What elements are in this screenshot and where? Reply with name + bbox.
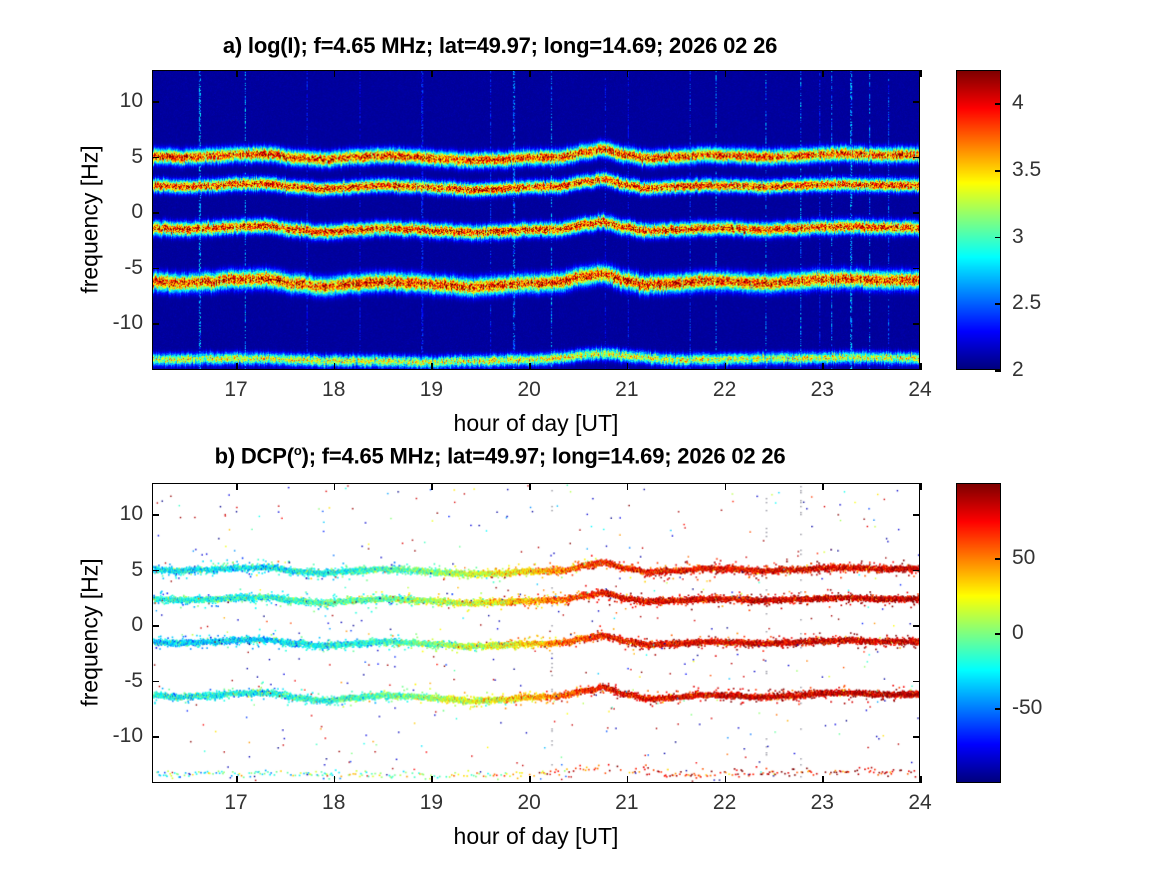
y-tick-mark-right [913, 736, 920, 738]
panel-a-colorbar [956, 70, 1001, 370]
y-tick-mark-right [913, 212, 920, 214]
x-tick-label: 21 [615, 791, 638, 815]
y-tick-label: -5 [124, 669, 143, 693]
panel-a-axes [152, 70, 920, 370]
x-tick-mark-top [529, 70, 531, 77]
y-tick-mark-right [913, 157, 920, 159]
colorbar-tick-label: 3.5 [1012, 158, 1041, 182]
colorbar-tick-label: 4 [1012, 91, 1024, 115]
panel-b-title-superscript: o [294, 443, 302, 458]
x-tick-mark [334, 363, 336, 370]
y-tick-label: 5 [131, 145, 143, 169]
panel-b-title: b) DCP(o); f=4.65 MHz; lat=49.97; long=1… [0, 443, 1000, 469]
panel-b-axes [152, 483, 920, 783]
y-tick-mark-right [913, 514, 920, 516]
y-tick-label: 10 [120, 502, 143, 526]
colorbar-tick-mark [995, 708, 1001, 710]
panel-a-title: a) log(I); f=4.65 MHz; lat=49.97; long=1… [0, 33, 1000, 59]
panel-b-title-prefix: b) DCP( [215, 443, 294, 468]
x-tick-mark-top [725, 70, 727, 77]
x-tick-mark-top [431, 483, 433, 490]
y-tick-mark-right [913, 323, 920, 325]
panel-a-xlabel: hour of day [UT] [152, 410, 920, 437]
y-tick-label: 5 [131, 558, 143, 582]
colorbar-tick-mark [995, 303, 1001, 305]
y-tick-mark-right [913, 681, 920, 683]
x-tick-mark [529, 776, 531, 783]
y-tick-mark-right [913, 570, 920, 572]
colorbar-tick-mark [995, 633, 1001, 635]
panel-b-title-suffix: ); f=4.65 MHz; lat=49.97; long=14.69; 20… [302, 443, 786, 468]
x-tick-mark [725, 776, 727, 783]
x-tick-label: 21 [615, 378, 638, 402]
y-tick-mark [152, 570, 159, 572]
x-tick-mark-top [529, 483, 531, 490]
y-tick-mark [152, 625, 159, 627]
x-tick-mark-top [334, 483, 336, 490]
x-tick-mark-top [822, 483, 824, 490]
x-tick-label: 20 [517, 378, 540, 402]
x-tick-label: 17 [224, 378, 247, 402]
y-tick-label: -10 [113, 724, 143, 748]
x-tick-mark-top [236, 70, 238, 77]
colorbar-tick-mark [995, 237, 1001, 239]
y-tick-mark [152, 681, 159, 683]
colorbar-tick-label: 50 [1012, 546, 1035, 570]
colorbar-tick-mark [995, 370, 1001, 372]
x-tick-mark [822, 776, 824, 783]
x-tick-label: 19 [420, 378, 443, 402]
x-tick-label: 24 [908, 791, 931, 815]
x-tick-mark-top [920, 70, 922, 77]
panel-a-spectrogram [153, 71, 919, 369]
x-tick-mark [627, 776, 629, 783]
panel-a-colorbar-gradient [957, 71, 1000, 369]
y-tick-mark [152, 736, 159, 738]
colorbar-tick-label: 2.5 [1012, 291, 1041, 315]
panel-a: a) log(I); f=4.65 MHz; lat=49.97; long=1… [0, 0, 1167, 437]
x-tick-mark [529, 363, 531, 370]
x-tick-mark-top [627, 483, 629, 490]
panel-a-ylabel: frequency [Hz] [77, 70, 104, 370]
colorbar-tick-label: 0 [1012, 621, 1024, 645]
y-tick-mark-right [913, 101, 920, 103]
panel-b-xlabel: hour of day [UT] [152, 823, 920, 850]
y-tick-label: -10 [113, 311, 143, 335]
x-tick-mark [920, 363, 922, 370]
y-tick-label: -5 [124, 256, 143, 280]
y-tick-mark [152, 323, 159, 325]
colorbar-tick-label: -50 [1012, 696, 1042, 720]
x-tick-mark [431, 776, 433, 783]
x-tick-mark-top [431, 70, 433, 77]
x-tick-mark [725, 363, 727, 370]
panel-b-scatter [153, 484, 919, 782]
x-tick-mark [920, 776, 922, 783]
x-tick-mark [627, 363, 629, 370]
y-tick-mark [152, 514, 159, 516]
colorbar-tick-label: 2 [1012, 358, 1024, 382]
x-tick-mark [334, 776, 336, 783]
x-tick-mark [236, 363, 238, 370]
panel-b-colorbar-gradient [957, 484, 1000, 782]
y-tick-mark [152, 268, 159, 270]
x-tick-mark-top [236, 483, 238, 490]
x-tick-mark [822, 363, 824, 370]
x-tick-mark [236, 776, 238, 783]
y-tick-label: 0 [131, 613, 143, 637]
y-tick-label: 10 [120, 89, 143, 113]
x-tick-label: 22 [713, 378, 736, 402]
y-tick-mark [152, 212, 159, 214]
x-tick-mark-top [725, 483, 727, 490]
x-tick-mark-top [627, 70, 629, 77]
colorbar-tick-mark [995, 170, 1001, 172]
x-tick-label: 23 [811, 791, 834, 815]
x-tick-label: 20 [517, 791, 540, 815]
panel-b-ylabel: frequency [Hz] [77, 483, 104, 783]
x-tick-label: 23 [811, 378, 834, 402]
y-tick-mark-right [913, 268, 920, 270]
x-tick-mark [431, 363, 433, 370]
x-tick-label: 18 [322, 378, 345, 402]
x-tick-mark-top [822, 70, 824, 77]
x-tick-mark-top [920, 483, 922, 490]
y-tick-mark [152, 101, 159, 103]
y-tick-mark [152, 157, 159, 159]
x-tick-label: 18 [322, 791, 345, 815]
colorbar-tick-mark [995, 558, 1001, 560]
x-tick-label: 22 [713, 791, 736, 815]
x-tick-label: 19 [420, 791, 443, 815]
figure-canvas: a) log(I); f=4.65 MHz; lat=49.97; long=1… [0, 0, 1167, 875]
y-tick-label: 0 [131, 200, 143, 224]
colorbar-tick-mark [995, 103, 1001, 105]
x-tick-label: 24 [908, 378, 931, 402]
y-tick-mark-right [913, 625, 920, 627]
colorbar-tick-label: 3 [1012, 225, 1024, 249]
x-tick-label: 17 [224, 791, 247, 815]
x-tick-mark-top [334, 70, 336, 77]
